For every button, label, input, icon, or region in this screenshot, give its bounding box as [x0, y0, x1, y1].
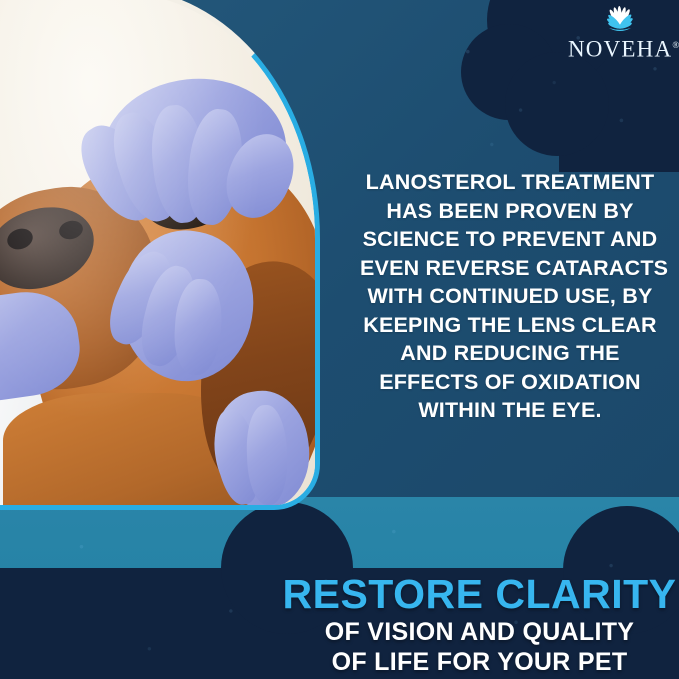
registered-mark: ®	[672, 40, 679, 50]
body-line: HAS BEEN PROVEN BY	[360, 197, 660, 226]
headline-block: RESTORE CLARITY OF VISION AND QUALITY OF…	[280, 572, 679, 677]
body-line: AND REDUCING THE	[360, 339, 660, 368]
brand-wordmark: NOVEHA®	[568, 33, 672, 62]
body-line: EFFECTS OF OXIDATION	[360, 368, 660, 397]
brand-name: NOVEHA	[568, 37, 672, 62]
headline-secondary-line: OF LIFE FOR YOUR PET	[280, 647, 679, 677]
headline-secondary-line: OF VISION AND QUALITY	[280, 617, 679, 647]
leaf-fan-icon	[568, 6, 672, 33]
body-line: LANOSTEROL TREATMENT	[360, 168, 660, 197]
body-line: KEEPING THE LENS CLEAR	[360, 311, 660, 340]
body-line: WITH CONTINUED USE, BY	[360, 282, 660, 311]
body-copy: LANOSTEROL TREATMENT HAS BEEN PROVEN BY …	[360, 168, 660, 425]
dog-photo-panel	[0, 0, 320, 510]
product-banner: NOVEHA® LANOSTEROL TREATMENT HAS BEEN PR…	[0, 0, 679, 679]
brand-logo: NOVEHA®	[568, 6, 672, 62]
navy-blob-circle-3	[505, 52, 609, 156]
body-line: WITHIN THE EYE.	[360, 396, 660, 425]
headline-primary: RESTORE CLARITY	[280, 572, 679, 617]
body-line: EVEN REVERSE CATARACTS	[360, 254, 660, 283]
dog-photo	[0, 0, 315, 505]
body-line: SCIENCE TO PREVENT AND	[360, 225, 660, 254]
